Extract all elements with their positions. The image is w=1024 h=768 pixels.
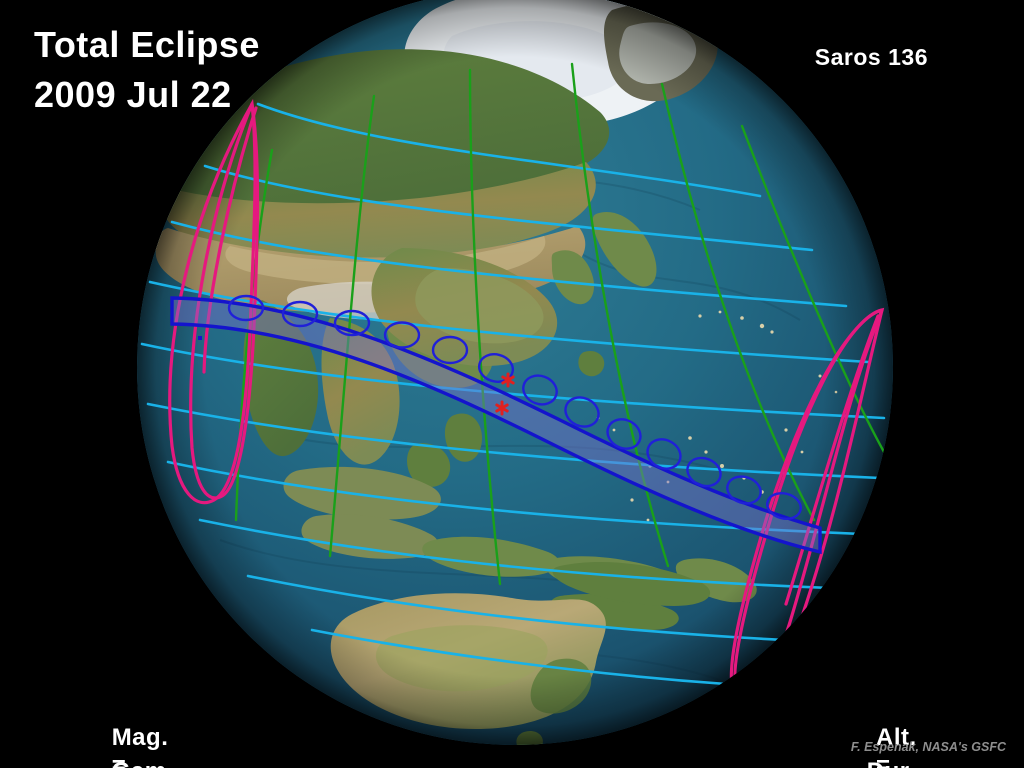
duration-stat: Dur. = 6m 39s [795,702,938,768]
eclipse-date: 2009 Jul 22 [34,74,232,116]
saros-series-label: Saros 136 [815,44,928,71]
page-title: Total Eclipse [34,24,260,66]
credit-line: F. Espenak, NASA's GSFC [851,740,1006,754]
path-tick-marker [198,336,202,340]
globe-surface [137,0,893,754]
duration-key: Dur. [867,758,929,768]
gamma-stat: Gam. = 0.070 [40,702,174,768]
gamma-key: Gam. [112,758,174,768]
eclipse-map-figure: Total Eclipse 2009 Jul 22 Saros 136 Mag.… [0,0,1024,768]
